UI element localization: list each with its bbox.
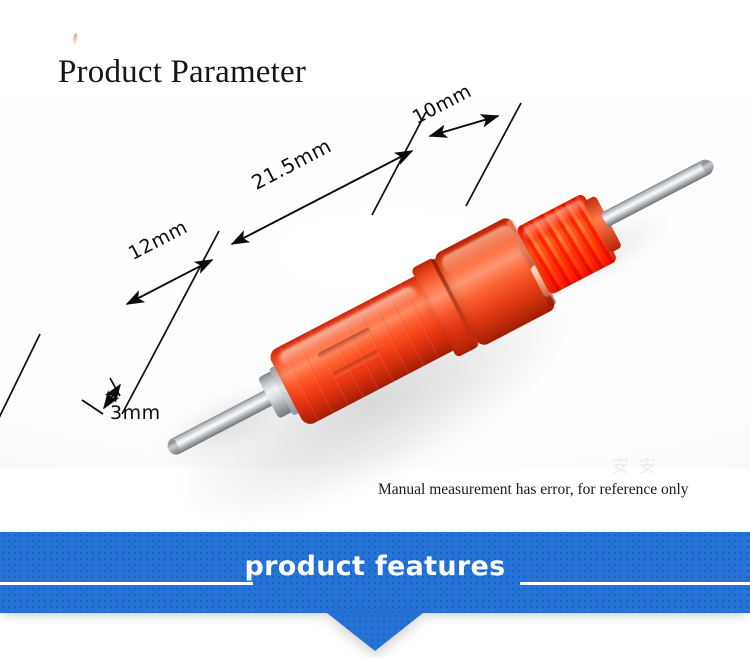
banner-title: product features (0, 551, 750, 582)
product-parameter-page: Product Parameter (0, 0, 750, 658)
watermark: 安安 (612, 452, 666, 477)
witness-line-pin-start (0, 334, 40, 426)
witness-line-pin-lower (122, 369, 146, 414)
banner-rule-left (0, 582, 253, 585)
dim-arrow-10mm-left (430, 116, 498, 136)
product-photo (0, 96, 750, 468)
page-title: Product Parameter (58, 52, 306, 92)
dim-arrow-215mm-left (232, 151, 412, 244)
witness-line-nose-start (372, 112, 426, 215)
dimension-lines (0, 96, 750, 468)
witness-line-dia-lower (82, 400, 103, 414)
witness-line-nose-end (466, 103, 521, 206)
dim-arrow-3mm-up (104, 385, 120, 408)
banner-rule-right (520, 582, 750, 585)
title-speck-artifact (72, 33, 78, 46)
disclaimer-note: Manual measurement has error, for refere… (378, 481, 689, 499)
dim-arrow-12mm-left (127, 260, 212, 304)
witness-line-body-start (146, 231, 219, 369)
